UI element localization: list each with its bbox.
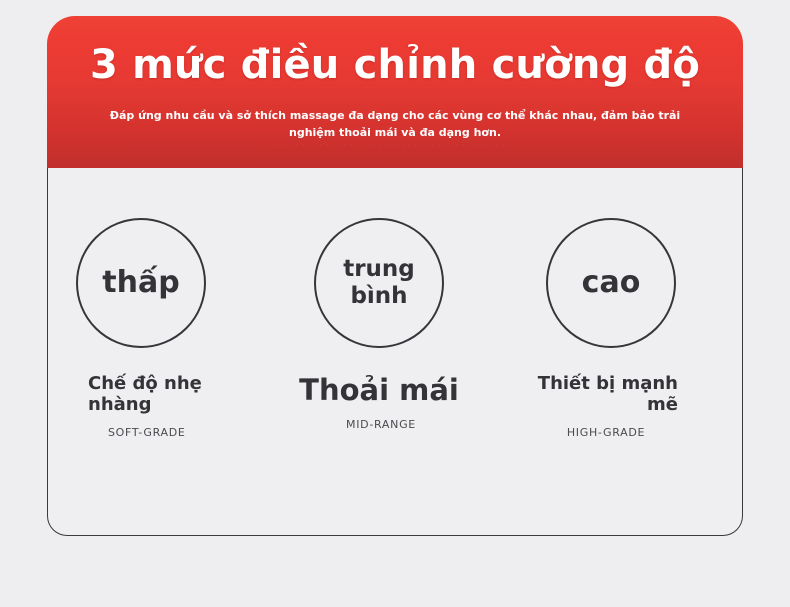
level-caption-high: Thiết bị mạnh mẽ	[526, 373, 678, 415]
level-subcaption-low: SOFT-GRADE	[76, 426, 248, 439]
level-circle-low: thấp	[76, 218, 206, 348]
level-caption-low: Chế độ nhẹ nhàng	[76, 373, 228, 415]
level-circle-label-low: thấp	[102, 266, 179, 301]
level-item-high: cao Thiết bị mạnh mẽ HIGH-GRADE	[526, 218, 726, 439]
hero-banner: 3 mức điều chỉnh cường độ Đáp ứng nhu cầ…	[47, 16, 743, 168]
level-circle-label-mid: trung bình	[343, 256, 415, 309]
page-title: 3 mức điều chỉnh cường độ	[47, 44, 743, 87]
level-caption-high-line2: mẽ	[532, 394, 678, 415]
level-subcaption-mid: MID-RANGE	[296, 418, 466, 431]
level-caption-low-line2: nhàng	[88, 394, 228, 415]
hero-subtitle: Đáp ứng nhu cầu và sở thích massage đa d…	[99, 108, 691, 141]
hero-watermark: · · · · · · · · · · · · · · · · · · · · …	[107, 141, 683, 150]
level-circle-label-mid-line2: bình	[350, 283, 407, 309]
level-item-mid: trung bình Thoải mái MID-RANGE	[296, 218, 496, 431]
level-circle-label-mid-line1: trung	[343, 256, 415, 282]
level-caption-mid: Thoải mái	[294, 373, 464, 407]
level-circle-mid: trung bình	[314, 218, 444, 348]
levels-card: thấp Chế độ nhẹ nhàng SOFT-GRADE trung b…	[47, 168, 743, 536]
level-caption-mid-line1: Thoải mái	[294, 373, 464, 407]
level-circle-label-high: cao	[582, 266, 641, 301]
level-caption-low-line1: Chế độ nhẹ	[88, 373, 228, 394]
promo-graphic: 3 mức điều chỉnh cường độ Đáp ứng nhu cầ…	[0, 0, 790, 607]
level-circle-high: cao	[546, 218, 676, 348]
levels-row: thấp Chế độ nhẹ nhàng SOFT-GRADE trung b…	[48, 168, 742, 535]
level-item-low: thấp Chế độ nhẹ nhàng SOFT-GRADE	[76, 218, 276, 439]
level-caption-high-line1: Thiết bị mạnh	[532, 373, 678, 394]
level-subcaption-high: HIGH-GRADE	[526, 426, 682, 439]
